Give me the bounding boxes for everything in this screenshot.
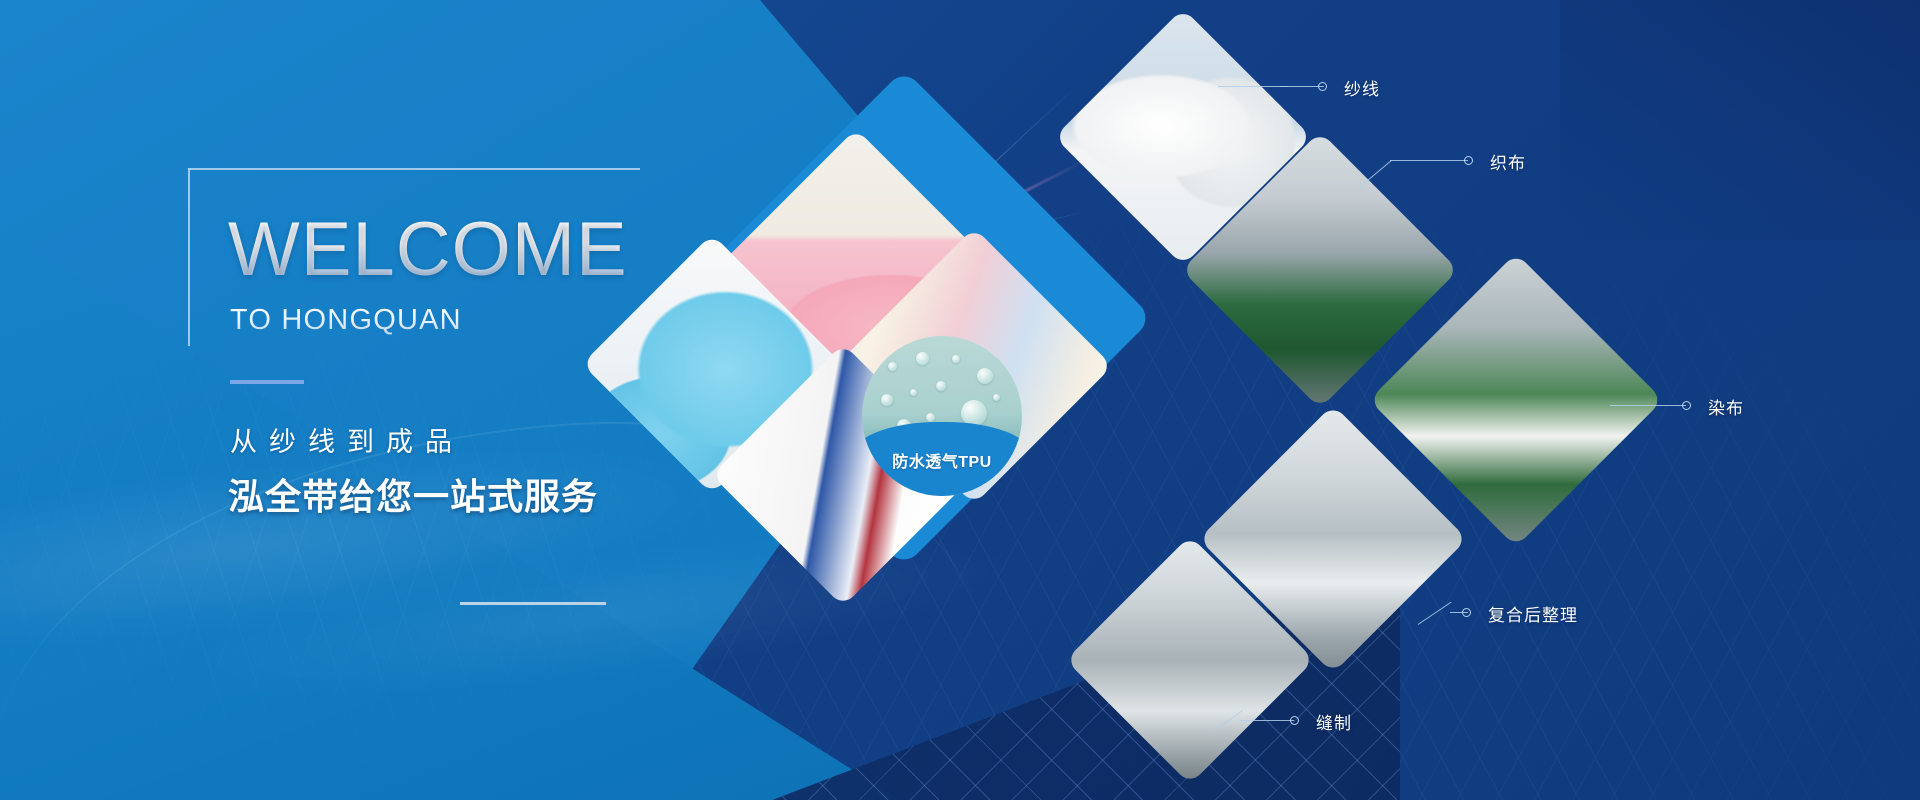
process-label-dyeing-text: 染布 [1708,394,1744,419]
bottom-accent-rule [460,602,606,605]
frame-border-top [188,168,640,170]
background-corner-shade [1560,0,1920,240]
process-label-sewing-text: 缝制 [1316,709,1352,734]
status-badge[interactable]: 防水透气TPU [862,336,1022,496]
headline-chinese: 泓全带给您一站式服务 [228,468,598,520]
tagline-chinese: 从纱线到成品 [230,420,464,459]
process-label-finishing-text: 复合后整理 [1488,601,1578,626]
frame-border-left [188,168,190,346]
process-label-yarn-text: 纱线 [1344,75,1380,100]
welcome-banner: WELCOME TO HONGQUAN 从纱线到成品 泓全带给您一站式服务 [0,0,1920,800]
page-subtitle: TO HONGQUAN [230,304,462,337]
accent-rule [230,380,304,384]
badge-label: 防水透气TPU [862,448,1022,472]
page-title: WELCOME [228,212,628,288]
process-label-weaving-text: 织布 [1490,149,1526,174]
